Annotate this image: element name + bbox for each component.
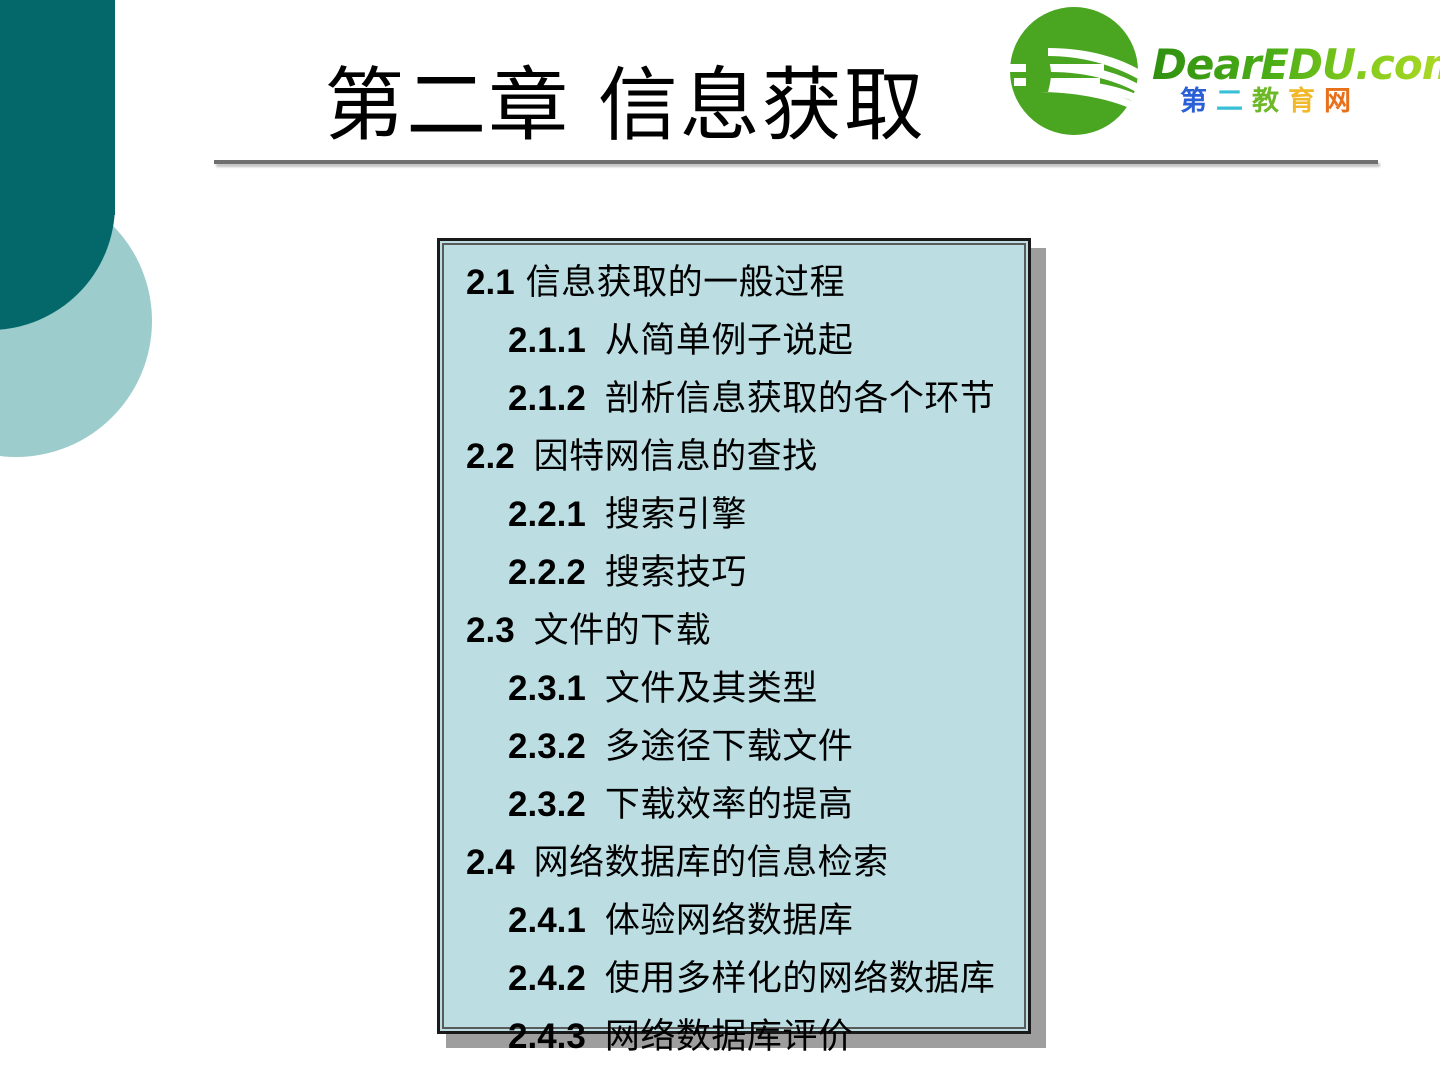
toc-item[interactable]: 2.1信息获取的一般过程 xyxy=(460,255,1020,311)
toc-item-number: 2.4 xyxy=(466,835,515,891)
toc-item[interactable]: 2.4网络数据库的信息检索 xyxy=(460,835,1020,891)
toc-item-number: 2.4.3 xyxy=(508,1009,586,1065)
toc-item-number: 2.2 xyxy=(466,429,515,485)
toc-item[interactable]: 2.2.1搜索引擎 xyxy=(460,487,1020,543)
dearedu-logo: DearEDU.com 第二教育网 xyxy=(1002,4,1434,136)
toc-item[interactable]: 2.1.2剖析信息获取的各个环节 xyxy=(460,371,1020,427)
toc-item[interactable]: 2.3.1文件及其类型 xyxy=(460,661,1020,717)
logo-subtitle-char-5: 网 xyxy=(1324,86,1351,117)
toc-item[interactable]: 2.3文件的下载 xyxy=(460,603,1020,659)
toc-item[interactable]: 2.2因特网信息的查找 xyxy=(460,429,1020,485)
toc-item-number: 2.3.2 xyxy=(508,719,586,775)
logo-subtitle-char-3: 教 xyxy=(1252,86,1279,117)
logo-subtitle-char-2: 二 xyxy=(1216,86,1243,117)
toc-item-label: 多途径下载文件 xyxy=(605,719,854,775)
toc-item-label: 搜索技巧 xyxy=(605,545,747,601)
toc-item-number: 2.3 xyxy=(466,603,515,659)
toc-item-label: 剖析信息获取的各个环节 xyxy=(605,371,996,427)
toc-item[interactable]: 2.1.1从简单例子说起 xyxy=(460,313,1020,369)
toc-item[interactable]: 2.4.1体验网络数据库 xyxy=(460,893,1020,949)
toc-item-number: 2.1.1 xyxy=(508,313,586,369)
toc-item-label: 搜索引擎 xyxy=(605,487,747,543)
toc-item-number: 2.1.2 xyxy=(508,371,586,427)
toc-item-label: 文件及其类型 xyxy=(605,661,818,717)
toc-item-label: 体验网络数据库 xyxy=(605,893,854,949)
toc-item-number: 2.3.1 xyxy=(508,661,586,717)
toc-item-label: 文件的下载 xyxy=(534,603,712,659)
toc-list: 2.1信息获取的一般过程2.1.1从简单例子说起2.1.2剖析信息获取的各个环节… xyxy=(460,255,1020,1067)
title-divider xyxy=(214,160,1378,164)
toc-item-label: 下载效率的提高 xyxy=(605,777,854,833)
toc-item[interactable]: 2.4.3网络数据库评价 xyxy=(460,1009,1020,1065)
toc-item[interactable]: 2.3.2下载效率的提高 xyxy=(460,777,1020,833)
logo-wordmark: DearEDU.com xyxy=(1152,42,1440,88)
toc-item-label: 因特网信息的查找 xyxy=(534,429,818,485)
toc-item-number: 2.4.1 xyxy=(508,893,586,949)
light-teal-circle xyxy=(0,185,152,457)
toc-item-number: 2.1 xyxy=(466,255,515,311)
toc-item-label: 网络数据库的信息检索 xyxy=(534,835,889,891)
toc-item-number: 2.2.2 xyxy=(508,545,586,601)
toc-item-number: 2.3.2 xyxy=(508,777,586,833)
toc-item-label: 信息获取的一般过程 xyxy=(526,255,846,311)
toc-item-number: 2.2.1 xyxy=(508,487,586,543)
toc-item-number: 2.4.2 xyxy=(508,951,586,1007)
toc-item-label: 从简单例子说起 xyxy=(605,313,854,369)
logo-circle-icon xyxy=(1008,6,1140,136)
toc-item-label: 网络数据库评价 xyxy=(605,1009,854,1065)
logo-text: DearEDU.com 第二教育网 xyxy=(1152,42,1434,132)
toc-box: 2.1信息获取的一般过程2.1.1从简单例子说起2.1.2剖析信息获取的各个环节… xyxy=(437,238,1031,1034)
toc-item-label: 使用多样化的网络数据库 xyxy=(605,951,996,1007)
toc-item[interactable]: 2.4.2使用多样化的网络数据库 xyxy=(460,951,1020,1007)
logo-subtitle-char-4: 育 xyxy=(1288,86,1315,117)
logo-subtitle-char-1: 第 xyxy=(1180,86,1207,117)
toc-item[interactable]: 2.2.2搜索技巧 xyxy=(460,545,1020,601)
logo-subtitle: 第二教育网 xyxy=(1180,87,1360,117)
toc-item[interactable]: 2.3.2多途径下载文件 xyxy=(460,719,1020,775)
